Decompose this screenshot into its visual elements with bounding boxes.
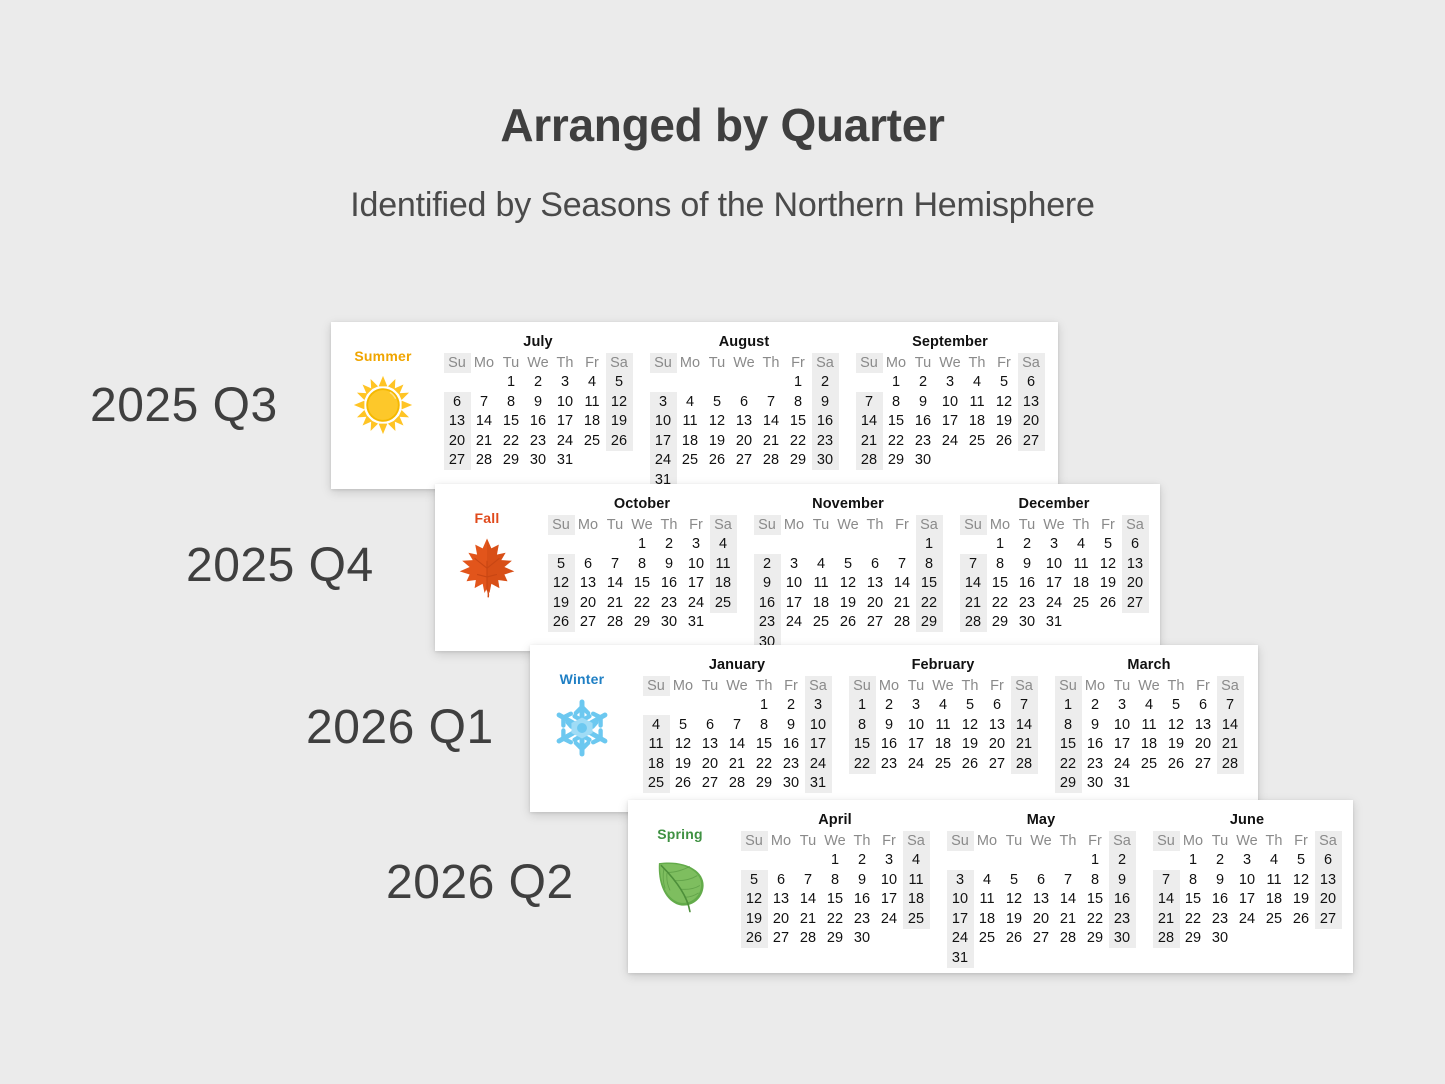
day-cell[interactable]: 5 [548,554,575,574]
day-cell[interactable]: 5 [1163,696,1190,716]
day-cell[interactable]: 7 [960,554,987,574]
day-cell[interactable]: 18 [677,431,704,451]
day-cell[interactable]: 25 [1136,754,1163,774]
day-cell[interactable]: 15 [751,735,778,755]
day-cell[interactable]: 3 [876,851,903,871]
day-cell[interactable]: 8 [498,392,525,412]
day-cell[interactable]: 26 [670,774,697,794]
day-cell[interactable]: 12 [1163,715,1190,735]
day-cell[interactable]: 17 [683,574,710,594]
day-cell[interactable]: 7 [1011,696,1038,716]
day-cell[interactable]: 16 [876,735,903,755]
day-cell[interactable]: 4 [677,392,704,412]
day-cell[interactable]: 21 [1011,735,1038,755]
day-cell[interactable]: 11 [903,870,930,890]
day-cell[interactable]: 2 [1207,851,1234,871]
day-cell[interactable]: 29 [1055,774,1082,794]
day-cell[interactable]: 24 [903,754,930,774]
day-cell[interactable]: 28 [602,613,629,633]
day-cell[interactable]: 2 [876,696,903,716]
day-cell[interactable]: 3 [903,696,930,716]
day-cell[interactable]: 15 [1055,735,1082,755]
day-cell[interactable]: 3 [781,554,808,574]
day-cell[interactable]: 1 [629,535,656,555]
day-cell[interactable]: 13 [1190,715,1217,735]
day-cell[interactable]: 22 [987,593,1014,613]
day-cell[interactable]: 11 [1068,554,1095,574]
day-cell[interactable]: 18 [643,754,670,774]
day-cell[interactable]: 1 [987,535,1014,555]
day-cell[interactable]: 9 [1082,715,1109,735]
day-cell[interactable]: 16 [525,412,552,432]
day-cell[interactable]: 4 [710,535,737,555]
day-cell[interactable]: 14 [1153,890,1180,910]
day-cell[interactable]: 23 [910,431,937,451]
day-cell[interactable]: 10 [781,574,808,594]
day-cell[interactable]: 6 [1190,696,1217,716]
day-cell[interactable]: 5 [1095,535,1122,555]
day-cell[interactable]: 6 [444,392,471,412]
day-cell[interactable]: 5 [741,870,768,890]
day-cell[interactable]: 28 [1153,929,1180,949]
day-cell[interactable]: 13 [1315,870,1342,890]
day-cell[interactable]: 28 [856,451,883,471]
day-cell[interactable]: 15 [1180,890,1207,910]
day-cell[interactable]: 14 [795,890,822,910]
day-cell[interactable]: 10 [650,412,677,432]
day-cell[interactable]: 19 [548,593,575,613]
day-cell[interactable]: 6 [575,554,602,574]
day-cell[interactable]: 22 [1180,909,1207,929]
day-cell[interactable]: 23 [1109,909,1136,929]
day-cell[interactable]: 24 [947,929,974,949]
day-cell[interactable]: 8 [785,392,812,412]
quarter-panel-2025-q4[interactable]: FallOctoberSuMoTuWeThFrSa123456789101112… [435,484,1160,651]
day-cell[interactable]: 2 [525,373,552,393]
day-cell[interactable]: 20 [1190,735,1217,755]
day-cell[interactable]: 29 [987,613,1014,633]
day-cell[interactable]: 8 [987,554,1014,574]
day-cell[interactable]: 13 [697,735,724,755]
day-cell[interactable]: 1 [785,373,812,393]
day-cell[interactable]: 12 [670,735,697,755]
day-cell[interactable]: 25 [1068,593,1095,613]
day-cell[interactable]: 14 [602,574,629,594]
day-cell[interactable]: 5 [704,392,731,412]
day-cell[interactable]: 11 [808,574,835,594]
day-cell[interactable]: 3 [1041,535,1068,555]
day-cell[interactable]: 25 [808,613,835,633]
day-cell[interactable]: 9 [754,574,781,594]
day-cell[interactable]: 18 [1136,735,1163,755]
day-cell[interactable]: 21 [889,593,916,613]
day-cell[interactable]: 5 [1288,851,1315,871]
day-cell[interactable]: 13 [1018,392,1045,412]
day-cell[interactable]: 17 [947,909,974,929]
day-cell[interactable]: 5 [606,373,633,393]
day-cell[interactable]: 2 [849,851,876,871]
day-cell[interactable]: 13 [862,574,889,594]
day-cell[interactable]: 21 [795,909,822,929]
day-cell[interactable]: 14 [1217,715,1244,735]
day-cell[interactable]: 7 [1217,696,1244,716]
day-cell[interactable]: 3 [552,373,579,393]
day-cell[interactable]: 22 [1082,909,1109,929]
day-cell[interactable]: 11 [710,554,737,574]
day-cell[interactable]: 20 [1028,909,1055,929]
day-cell[interactable]: 1 [1055,696,1082,716]
day-cell[interactable]: 13 [444,412,471,432]
day-cell[interactable]: 6 [1028,870,1055,890]
day-cell[interactable]: 12 [1288,870,1315,890]
day-cell[interactable]: 19 [606,412,633,432]
day-cell[interactable]: 4 [579,373,606,393]
day-cell[interactable]: 13 [768,890,795,910]
day-cell[interactable]: 15 [1082,890,1109,910]
day-cell[interactable]: 8 [822,870,849,890]
day-cell[interactable]: 24 [937,431,964,451]
day-cell[interactable]: 4 [808,554,835,574]
day-cell[interactable]: 18 [1068,574,1095,594]
day-cell[interactable]: 18 [808,593,835,613]
day-cell[interactable]: 20 [862,593,889,613]
day-cell[interactable]: 9 [910,392,937,412]
day-cell[interactable]: 30 [778,774,805,794]
day-cell[interactable]: 22 [822,909,849,929]
day-cell[interactable]: 17 [805,735,832,755]
day-cell[interactable]: 29 [883,451,910,471]
day-cell[interactable]: 10 [805,715,832,735]
day-cell[interactable]: 17 [552,412,579,432]
day-cell[interactable]: 9 [525,392,552,412]
day-cell[interactable]: 9 [656,554,683,574]
day-cell[interactable]: 1 [849,696,876,716]
day-cell[interactable]: 12 [957,715,984,735]
day-cell[interactable]: 24 [805,754,832,774]
day-cell[interactable]: 14 [724,735,751,755]
day-cell[interactable]: 30 [656,613,683,633]
day-cell[interactable]: 27 [444,451,471,471]
day-cell[interactable]: 24 [1041,593,1068,613]
day-cell[interactable]: 16 [910,412,937,432]
day-cell[interactable]: 20 [1315,890,1342,910]
day-cell[interactable]: 11 [930,715,957,735]
day-cell[interactable]: 3 [683,535,710,555]
day-cell[interactable]: 18 [579,412,606,432]
day-cell[interactable]: 23 [1014,593,1041,613]
day-cell[interactable]: 7 [1153,870,1180,890]
day-cell[interactable]: 10 [947,890,974,910]
day-cell[interactable]: 31 [552,451,579,471]
day-cell[interactable]: 12 [548,574,575,594]
day-cell[interactable]: 7 [889,554,916,574]
day-cell[interactable]: 21 [960,593,987,613]
day-cell[interactable]: 1 [822,851,849,871]
day-cell[interactable]: 1 [751,696,778,716]
day-cell[interactable]: 26 [835,613,862,633]
day-cell[interactable]: 10 [903,715,930,735]
day-cell[interactable]: 6 [768,870,795,890]
day-cell[interactable]: 28 [471,451,498,471]
day-cell[interactable]: 24 [650,451,677,471]
day-cell[interactable]: 24 [781,613,808,633]
day-cell[interactable]: 8 [916,554,943,574]
day-cell[interactable]: 24 [1234,909,1261,929]
day-cell[interactable]: 7 [724,715,751,735]
day-cell[interactable]: 27 [984,754,1011,774]
day-cell[interactable]: 24 [1109,754,1136,774]
quarter-panel-2026-q2[interactable]: SpringAprilSuMoTuWeThFrSa123456789101112… [628,800,1353,973]
day-cell[interactable]: 27 [1122,593,1149,613]
day-cell[interactable]: 5 [957,696,984,716]
day-cell[interactable]: 8 [849,715,876,735]
day-cell[interactable]: 28 [1055,929,1082,949]
day-cell[interactable]: 14 [758,412,785,432]
day-cell[interactable]: 31 [1109,774,1136,794]
day-cell[interactable]: 13 [575,574,602,594]
day-cell[interactable]: 10 [876,870,903,890]
day-cell[interactable]: 8 [1055,715,1082,735]
day-cell[interactable]: 6 [1315,851,1342,871]
day-cell[interactable]: 25 [710,593,737,613]
day-cell[interactable]: 4 [903,851,930,871]
day-cell[interactable]: 4 [1068,535,1095,555]
day-cell[interactable]: 25 [579,431,606,451]
day-cell[interactable]: 1 [1082,851,1109,871]
day-cell[interactable]: 23 [849,909,876,929]
day-cell[interactable]: 26 [1001,929,1028,949]
day-cell[interactable]: 29 [1082,929,1109,949]
day-cell[interactable]: 9 [778,715,805,735]
day-cell[interactable]: 8 [883,392,910,412]
day-cell[interactable]: 9 [1014,554,1041,574]
day-cell[interactable]: 24 [683,593,710,613]
day-cell[interactable]: 27 [1315,909,1342,929]
day-cell[interactable]: 5 [835,554,862,574]
day-cell[interactable]: 20 [1122,574,1149,594]
day-cell[interactable]: 21 [1055,909,1082,929]
day-cell[interactable]: 29 [785,451,812,471]
day-cell[interactable]: 15 [849,735,876,755]
quarter-panel-2026-q1[interactable]: WinterJanuarySuMoTuWeThFrSa1234567891011… [530,645,1258,812]
day-cell[interactable]: 29 [498,451,525,471]
day-cell[interactable]: 27 [697,774,724,794]
day-cell[interactable]: 28 [1011,754,1038,774]
day-cell[interactable]: 18 [974,909,1001,929]
day-cell[interactable]: 3 [1109,696,1136,716]
day-cell[interactable]: 6 [1018,373,1045,393]
day-cell[interactable]: 4 [964,373,991,393]
day-cell[interactable]: 5 [670,715,697,735]
day-cell[interactable]: 31 [947,948,974,968]
day-cell[interactable]: 2 [1014,535,1041,555]
day-cell[interactable]: 25 [677,451,704,471]
day-cell[interactable]: 28 [1217,754,1244,774]
day-cell[interactable]: 15 [498,412,525,432]
day-cell[interactable]: 30 [1207,929,1234,949]
day-cell[interactable]: 16 [1207,890,1234,910]
day-cell[interactable]: 26 [1095,593,1122,613]
day-cell[interactable]: 14 [1011,715,1038,735]
day-cell[interactable]: 19 [1163,735,1190,755]
day-cell[interactable]: 27 [1190,754,1217,774]
day-cell[interactable]: 3 [1234,851,1261,871]
day-cell[interactable]: 21 [724,754,751,774]
day-cell[interactable]: 28 [758,451,785,471]
day-cell[interactable]: 18 [903,890,930,910]
day-cell[interactable]: 3 [947,870,974,890]
day-cell[interactable]: 20 [984,735,1011,755]
day-cell[interactable]: 4 [643,715,670,735]
day-cell[interactable]: 17 [1109,735,1136,755]
day-cell[interactable]: 23 [656,593,683,613]
day-cell[interactable]: 22 [751,754,778,774]
day-cell[interactable]: 2 [656,535,683,555]
day-cell[interactable]: 19 [957,735,984,755]
day-cell[interactable]: 22 [883,431,910,451]
day-cell[interactable]: 26 [704,451,731,471]
day-cell[interactable]: 7 [1055,870,1082,890]
day-cell[interactable]: 16 [812,412,839,432]
day-cell[interactable]: 22 [849,754,876,774]
day-cell[interactable]: 10 [1041,554,1068,574]
day-cell[interactable]: 1 [1180,851,1207,871]
day-cell[interactable]: 10 [683,554,710,574]
day-cell[interactable]: 21 [856,431,883,451]
day-cell[interactable]: 8 [1180,870,1207,890]
day-cell[interactable]: 19 [704,431,731,451]
day-cell[interactable]: 30 [812,451,839,471]
day-cell[interactable]: 1 [883,373,910,393]
day-cell[interactable]: 30 [910,451,937,471]
day-cell[interactable]: 15 [987,574,1014,594]
day-cell[interactable]: 26 [548,613,575,633]
day-cell[interactable]: 16 [1014,574,1041,594]
day-cell[interactable]: 7 [856,392,883,412]
day-cell[interactable]: 10 [937,392,964,412]
day-cell[interactable]: 6 [697,715,724,735]
day-cell[interactable]: 29 [1180,929,1207,949]
day-cell[interactable]: 6 [1122,535,1149,555]
day-cell[interactable]: 26 [991,431,1018,451]
day-cell[interactable]: 14 [960,574,987,594]
day-cell[interactable]: 2 [1082,696,1109,716]
day-cell[interactable]: 11 [579,392,606,412]
day-cell[interactable]: 17 [1234,890,1261,910]
day-cell[interactable]: 9 [812,392,839,412]
day-cell[interactable]: 8 [1082,870,1109,890]
day-cell[interactable]: 4 [930,696,957,716]
day-cell[interactable]: 15 [822,890,849,910]
day-cell[interactable]: 19 [835,593,862,613]
day-cell[interactable]: 30 [1014,613,1041,633]
day-cell[interactable]: 29 [751,774,778,794]
day-cell[interactable]: 4 [1136,696,1163,716]
day-cell[interactable]: 19 [741,909,768,929]
day-cell[interactable]: 5 [991,373,1018,393]
day-cell[interactable]: 20 [1018,412,1045,432]
day-cell[interactable]: 16 [1082,735,1109,755]
day-cell[interactable]: 30 [1109,929,1136,949]
day-cell[interactable]: 23 [1082,754,1109,774]
day-cell[interactable]: 23 [778,754,805,774]
day-cell[interactable]: 3 [650,392,677,412]
day-cell[interactable]: 27 [575,613,602,633]
day-cell[interactable]: 2 [812,373,839,393]
day-cell[interactable]: 7 [758,392,785,412]
day-cell[interactable]: 26 [741,929,768,949]
day-cell[interactable]: 20 [731,431,758,451]
day-cell[interactable]: 25 [643,774,670,794]
day-cell[interactable]: 19 [1095,574,1122,594]
day-cell[interactable]: 11 [1136,715,1163,735]
day-cell[interactable]: 4 [974,870,1001,890]
day-cell[interactable]: 25 [930,754,957,774]
day-cell[interactable]: 6 [862,554,889,574]
day-cell[interactable]: 2 [778,696,805,716]
day-cell[interactable]: 6 [731,392,758,412]
day-cell[interactable]: 12 [991,392,1018,412]
day-cell[interactable]: 31 [1041,613,1068,633]
day-cell[interactable]: 3 [805,696,832,716]
day-cell[interactable]: 19 [991,412,1018,432]
day-cell[interactable]: 23 [1207,909,1234,929]
day-cell[interactable]: 11 [1261,870,1288,890]
day-cell[interactable]: 23 [754,613,781,633]
day-cell[interactable]: 14 [471,412,498,432]
day-cell[interactable]: 16 [778,735,805,755]
day-cell[interactable]: 17 [781,593,808,613]
day-cell[interactable]: 7 [795,870,822,890]
day-cell[interactable]: 25 [974,929,1001,949]
day-cell[interactable]: 26 [1288,909,1315,929]
quarter-panel-2025-q3[interactable]: SummerJulySuMoTuWeThFrSa1234567891011121… [331,322,1058,489]
day-cell[interactable]: 25 [1261,909,1288,929]
day-cell[interactable]: 13 [731,412,758,432]
day-cell[interactable]: 21 [1217,735,1244,755]
day-cell[interactable]: 20 [575,593,602,613]
day-cell[interactable]: 21 [1153,909,1180,929]
day-cell[interactable]: 17 [937,412,964,432]
day-cell[interactable]: 29 [916,613,943,633]
day-cell[interactable]: 22 [498,431,525,451]
day-cell[interactable]: 9 [876,715,903,735]
day-cell[interactable]: 22 [629,593,656,613]
day-cell[interactable]: 19 [1001,909,1028,929]
day-cell[interactable]: 21 [471,431,498,451]
day-cell[interactable]: 15 [785,412,812,432]
day-cell[interactable]: 2 [910,373,937,393]
day-cell[interactable]: 20 [768,909,795,929]
day-cell[interactable]: 22 [916,593,943,613]
day-cell[interactable]: 16 [656,574,683,594]
day-cell[interactable]: 28 [960,613,987,633]
day-cell[interactable]: 11 [677,412,704,432]
day-cell[interactable]: 10 [1109,715,1136,735]
day-cell[interactable]: 30 [1082,774,1109,794]
day-cell[interactable]: 23 [876,754,903,774]
day-cell[interactable]: 12 [704,412,731,432]
day-cell[interactable]: 9 [1109,870,1136,890]
day-cell[interactable]: 17 [1041,574,1068,594]
day-cell[interactable]: 16 [849,890,876,910]
day-cell[interactable]: 24 [552,431,579,451]
day-cell[interactable]: 13 [1122,554,1149,574]
day-cell[interactable]: 17 [903,735,930,755]
day-cell[interactable]: 9 [1207,870,1234,890]
day-cell[interactable]: 28 [889,613,916,633]
day-cell[interactable]: 16 [754,593,781,613]
